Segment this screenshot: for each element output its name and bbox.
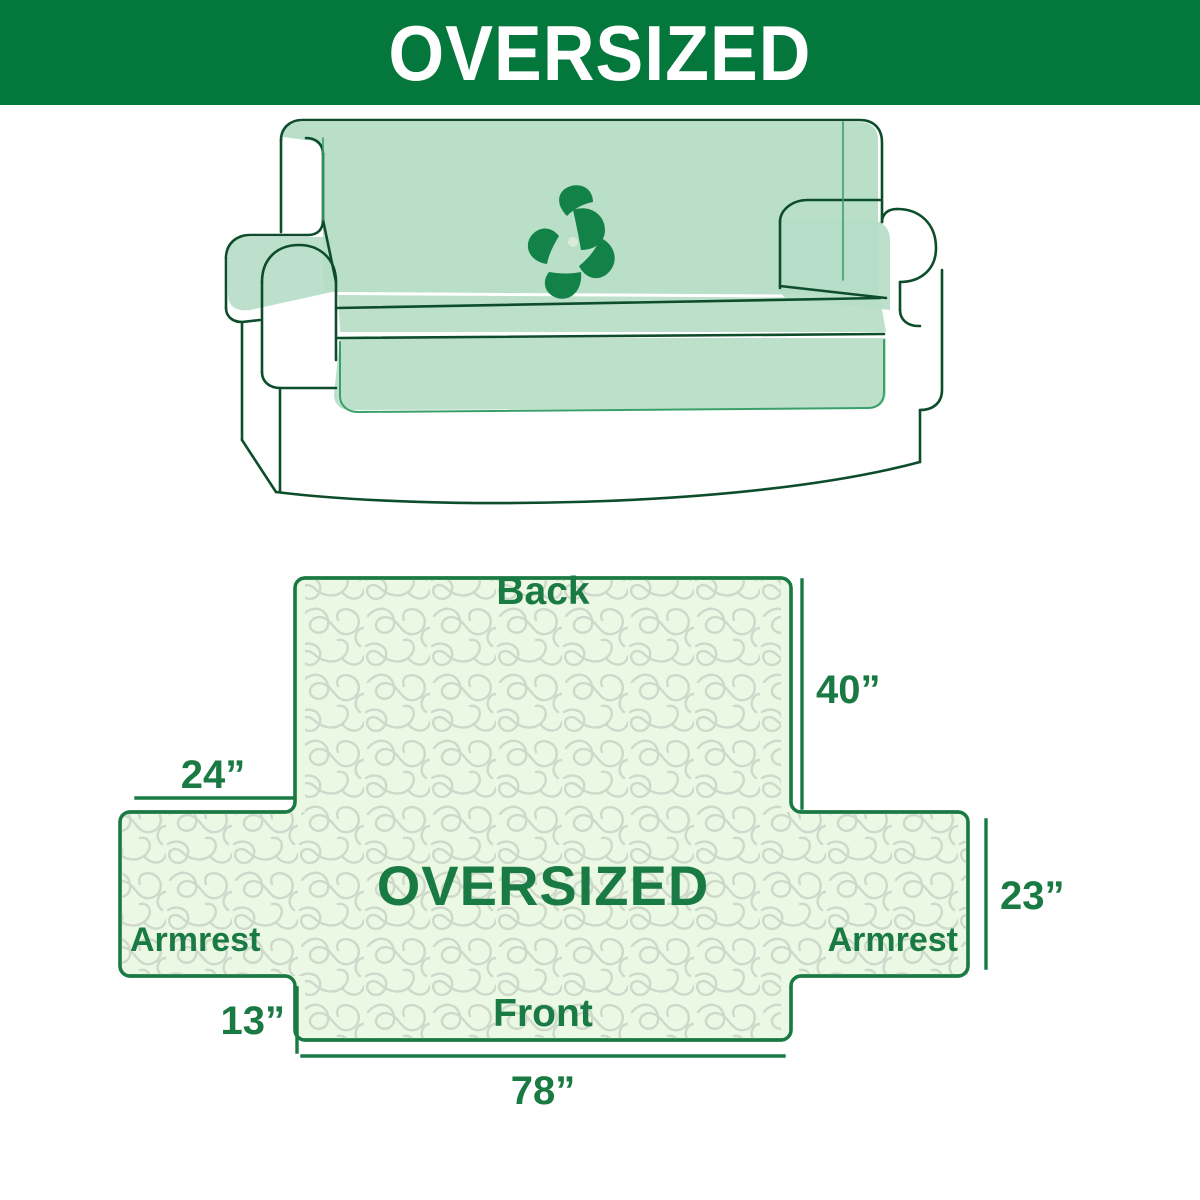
sofa-illustration bbox=[220, 110, 980, 510]
panel-label-armrest-right: Armrest bbox=[828, 921, 958, 959]
diagram-center-label: OVERSIZED bbox=[377, 854, 710, 917]
cover-dimension-diagram: Back Front Armrest Armrest OVERSIZED 40”… bbox=[100, 540, 1100, 1160]
dimension-diagram-section: Back Front Armrest Armrest OVERSIZED 40”… bbox=[0, 540, 1200, 1200]
cover-shape bbox=[110, 568, 990, 1058]
panel-label-armrest-left: Armrest bbox=[130, 921, 260, 959]
banner-title: OVERSIZED bbox=[389, 14, 812, 92]
sofa-cover-fills bbox=[228, 122, 890, 410]
dimension-label-78: 78” bbox=[511, 1069, 576, 1113]
dimension-label-24: 24” bbox=[181, 753, 246, 797]
header-banner: OVERSIZED bbox=[0, 0, 1200, 105]
dimension-label-40: 40” bbox=[816, 668, 881, 712]
sofa-illustration-section bbox=[0, 110, 1200, 530]
dimension-label-23: 23” bbox=[1000, 874, 1065, 918]
dimension-label-13: 13” bbox=[221, 999, 286, 1043]
panel-label-back: Back bbox=[496, 570, 590, 613]
panel-label-front: Front bbox=[493, 992, 593, 1035]
